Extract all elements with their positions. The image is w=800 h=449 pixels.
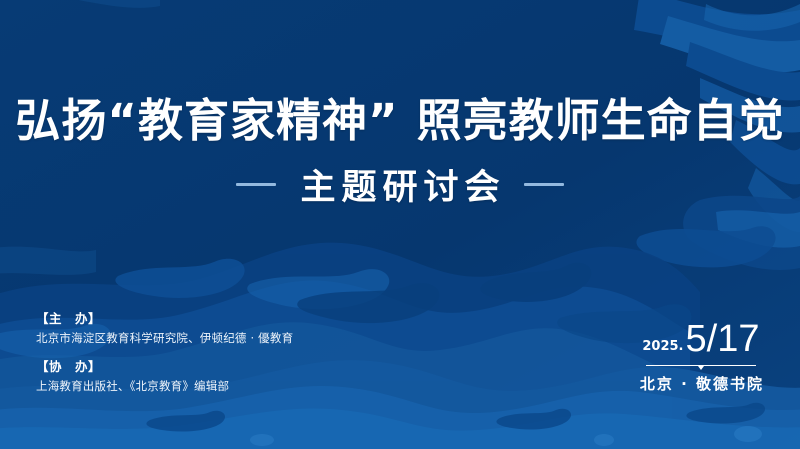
event-date-block: 2025. 5/17 北京 · 敬德书院 <box>638 321 764 394</box>
dash-left-icon <box>236 183 276 186</box>
organizer-group-host: 【主 办】 北京市海淀区教育科学研究院、伊顿纪德 · 優教育 <box>36 308 293 346</box>
subtitle: 主题研讨会 <box>294 159 505 210</box>
title-block: 弘扬“教育家精神”照亮教师生命自觉 主题研讨会 <box>0 96 800 210</box>
conference-poster: 弘扬“教育家精神”照亮教师生命自觉 主题研讨会 【主 办】 北京市海淀区教育科学… <box>0 0 800 449</box>
organizers-block: 【主 办】 北京市海淀区教育科学研究院、伊顿纪德 · 優教育 【协 办】 上海教… <box>36 308 293 394</box>
organizer-group-coorganizer: 【协 办】 上海教育出版社、《北京教育》编辑部 <box>36 356 293 394</box>
main-title-part2: 照亮教师生命自觉 <box>417 94 785 147</box>
event-date: 5/17 <box>686 321 760 357</box>
date-divider <box>646 365 756 367</box>
organizer-value-coorganizer: 上海教育出版社、《北京教育》编辑部 <box>36 378 293 394</box>
organizer-value-host: 北京市海淀区教育科学研究院、伊顿纪德 · 優教育 <box>36 330 293 346</box>
event-venue: 北京 · 敬德书院 <box>638 373 764 394</box>
organizer-label-coorganizer: 【协 办】 <box>36 356 293 375</box>
main-title: 弘扬“教育家精神”照亮教师生命自觉 <box>0 96 800 146</box>
subtitle-row: 主题研讨会 <box>0 159 800 210</box>
organizer-label-host: 【主 办】 <box>36 308 293 327</box>
date-row: 2025. 5/17 <box>638 321 764 360</box>
event-year: 2025. <box>642 339 683 358</box>
dash-right-icon <box>524 183 564 186</box>
main-title-part1: 弘扬“教育家精神” <box>15 94 398 147</box>
